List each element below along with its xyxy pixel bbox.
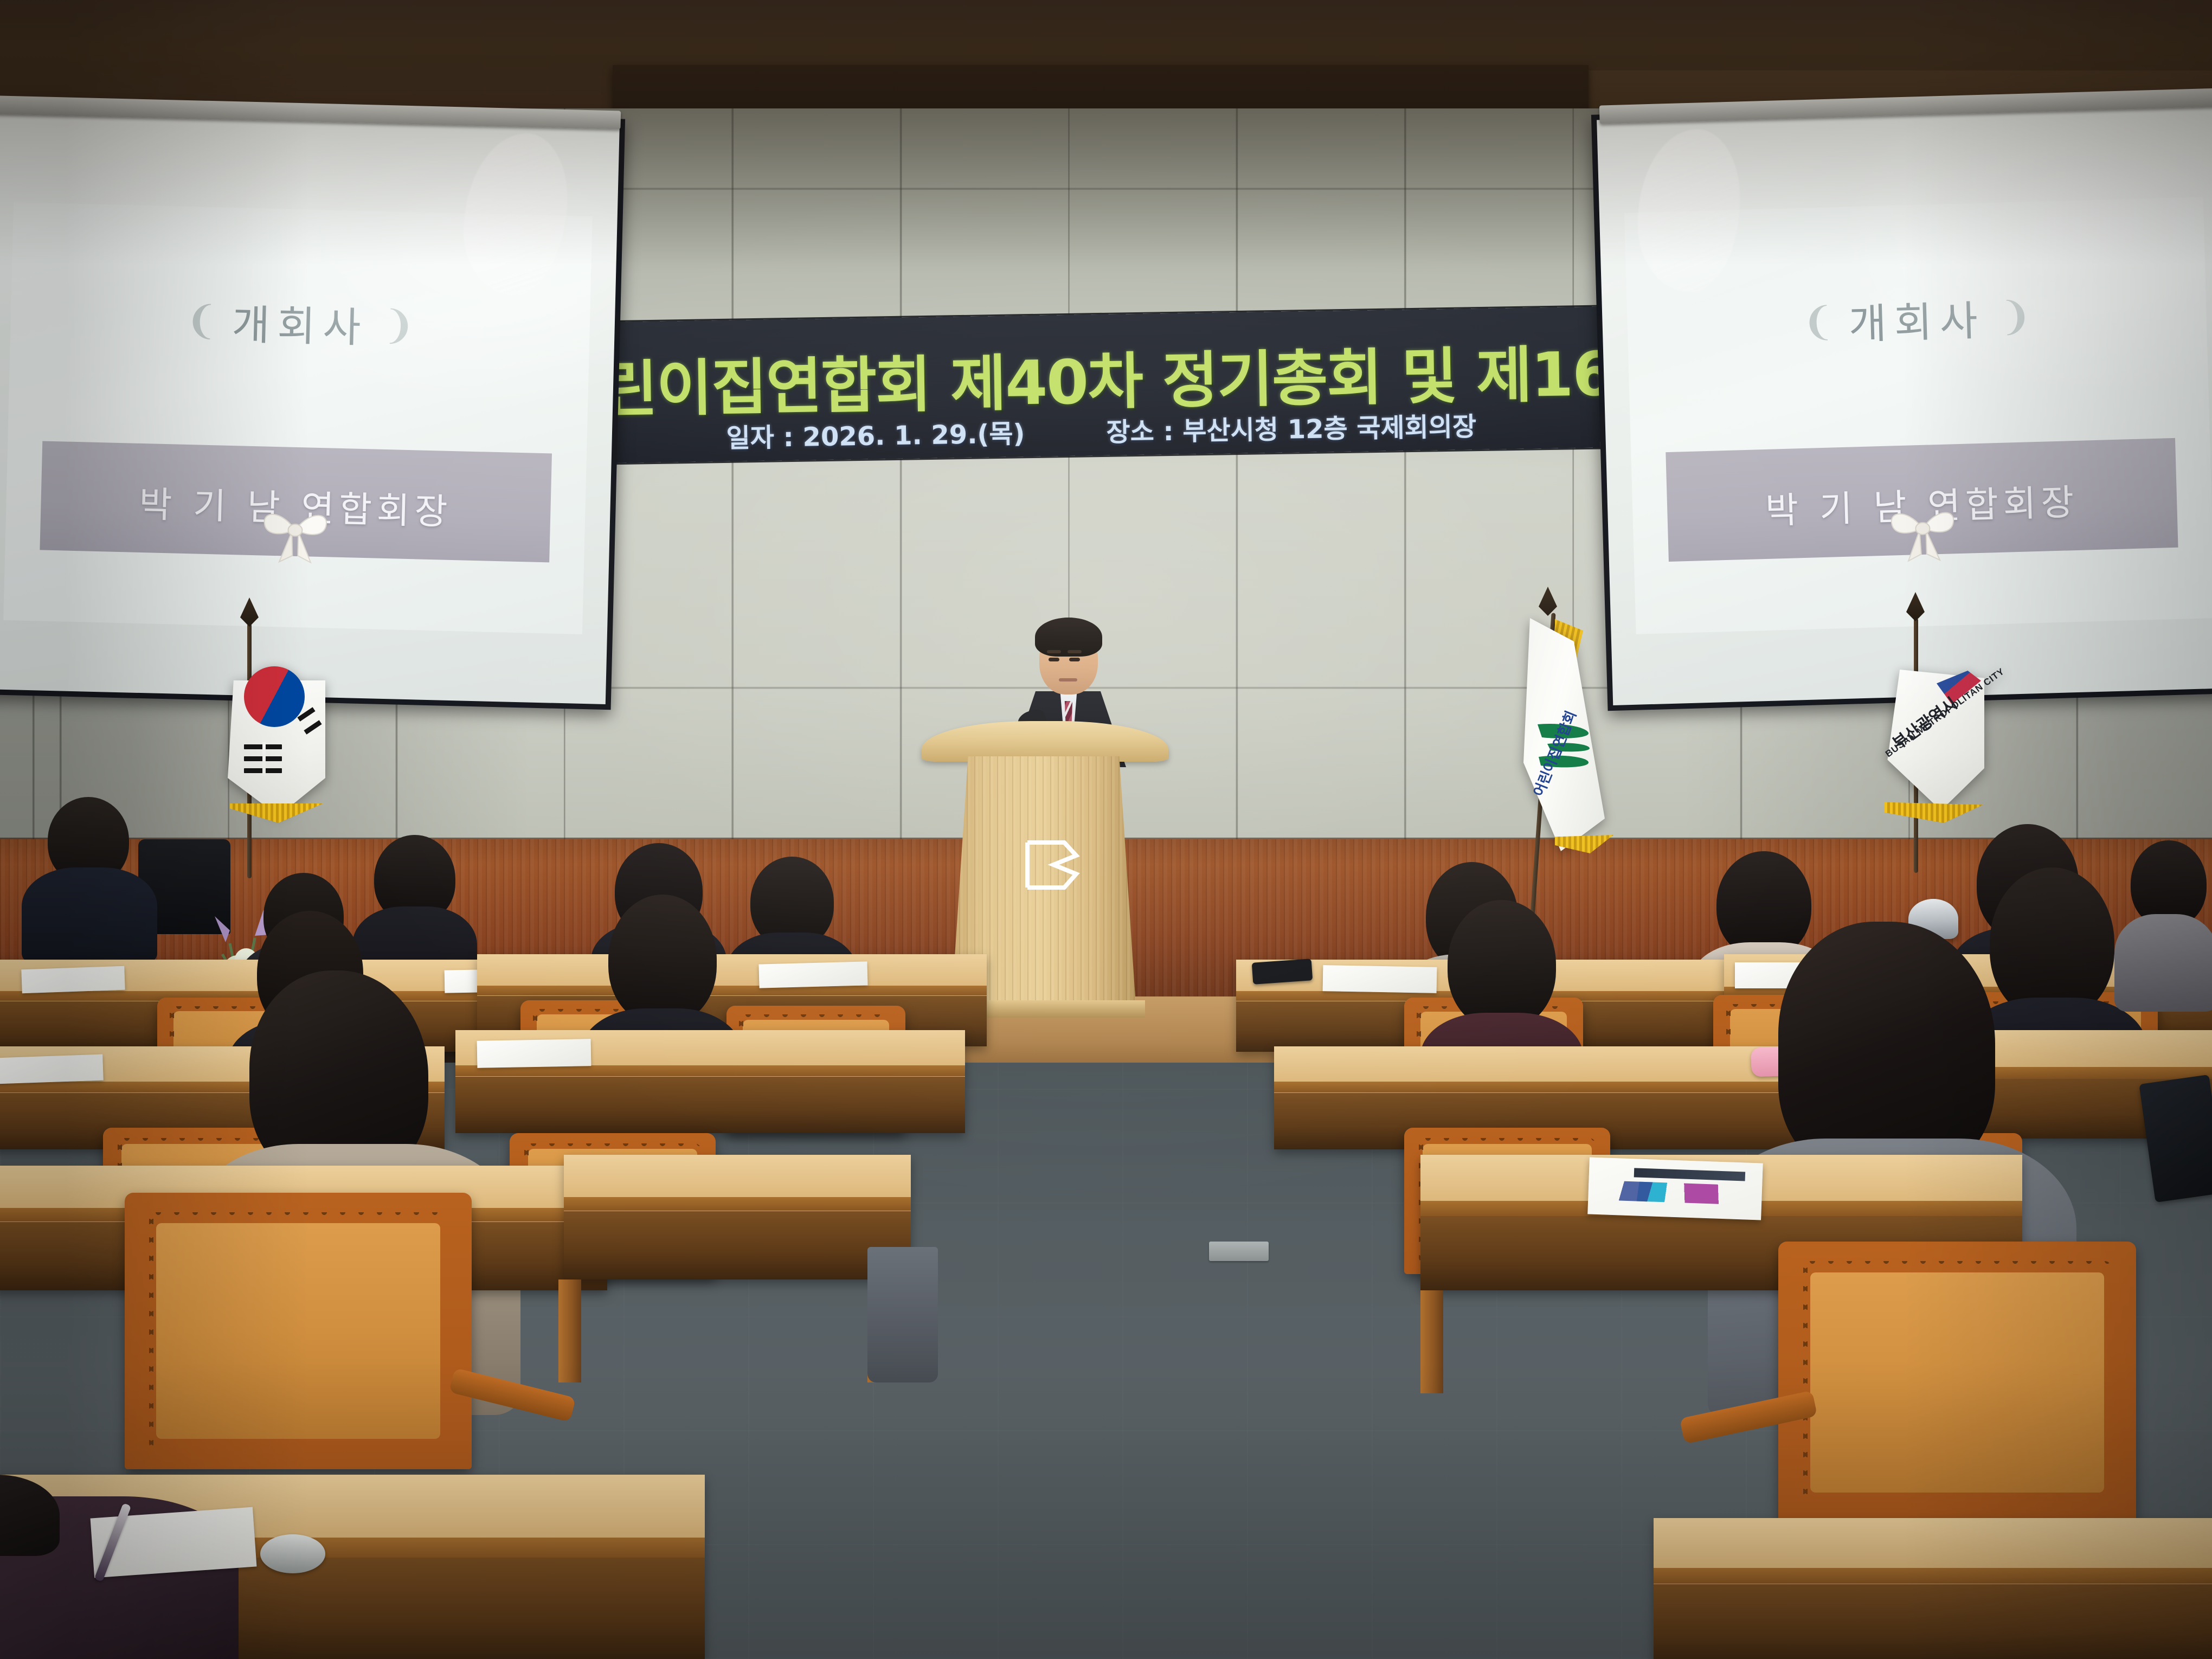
floor-tote-bag bbox=[867, 1247, 938, 1382]
chair-studs bbox=[149, 1212, 447, 1450]
paper-sheet bbox=[1323, 965, 1437, 993]
right-slide-name-band: 박 기 남 연합회장 bbox=[1666, 438, 2178, 562]
event-banner: 린이집연합회 제40차 정기총회 및 제16대 연합회 일자 : 2026. 1… bbox=[601, 307, 1600, 464]
korean-national-flag bbox=[228, 680, 325, 816]
left-slide-heading: 개회사 bbox=[232, 291, 369, 354]
smartphone bbox=[1252, 959, 1313, 985]
booklet-graphic bbox=[1598, 1180, 1752, 1205]
paper-sheet bbox=[758, 961, 867, 988]
chair bbox=[1778, 1242, 2136, 1523]
conference-hall-photo: 린이집연합회 제40차 정기총회 및 제16대 연합회 일자 : 2026. 1… bbox=[0, 0, 2212, 1659]
booklet-title-band bbox=[1634, 1168, 1745, 1181]
left-projection-screen: ❨ 개회사 ❩ 박 기 남 연합회장 bbox=[0, 104, 625, 710]
chair-studs bbox=[1803, 1261, 2111, 1503]
desk-row-front-center bbox=[564, 1155, 911, 1279]
attendee bbox=[22, 797, 157, 960]
speaker-eye-left bbox=[1049, 658, 1059, 661]
laurel-left-icon: ❨ bbox=[185, 300, 218, 340]
left-slide-name-band: 박 기 남 연합회장 bbox=[40, 441, 552, 562]
attendee-head bbox=[1448, 900, 1556, 1029]
ribbon-bow-icon bbox=[1873, 499, 1973, 572]
desk-apron bbox=[455, 1077, 965, 1134]
speaker-brow-left bbox=[1047, 650, 1061, 653]
desk-apron bbox=[1654, 1584, 2212, 1659]
desk-row-bottom-right bbox=[1654, 1518, 2212, 1659]
attendee-head bbox=[608, 895, 717, 1025]
right-slide-heading-row: ❨ 개회사 ❩ bbox=[1627, 281, 2207, 357]
banner-place: 장소 : 부산시청 12층 국제회의장 bbox=[1106, 405, 1477, 449]
chair bbox=[125, 1193, 472, 1469]
attendee-torso bbox=[22, 867, 157, 965]
paper-sheet bbox=[0, 1054, 104, 1084]
trigram-split bbox=[262, 742, 266, 776]
laurel-right-icon: ❩ bbox=[382, 305, 416, 345]
attendee-torso bbox=[2114, 914, 2212, 1012]
desk-edge bbox=[1654, 1568, 2212, 1584]
busan-metropolitan-city-flag: 부산광역시 BUSAN METROPOLITAN CITY bbox=[1881, 670, 1984, 811]
association-flag: 어린이집연합회 bbox=[1523, 618, 1605, 851]
right-projection-screen: ❨ 개회사 ❩ 박 기 남 연합회장 bbox=[1591, 97, 2212, 711]
paper-sheet bbox=[21, 966, 125, 994]
laurel-right-icon: ❩ bbox=[1998, 296, 2032, 336]
center-aisle bbox=[965, 1193, 1290, 1659]
left-slide-heading-row: ❨ 개회사 ❩ bbox=[10, 286, 590, 359]
speaker-eye-right bbox=[1069, 658, 1080, 661]
attendee bbox=[2114, 840, 2212, 1003]
right-screen-surface: ❨ 개회사 ❩ 박 기 남 연합회장 bbox=[1597, 102, 2212, 705]
desk-surface bbox=[564, 1155, 911, 1197]
right-slide-heading: 개회사 bbox=[1848, 287, 1986, 351]
desk-leg bbox=[558, 1279, 581, 1382]
desk-name-holder bbox=[260, 1534, 325, 1573]
program-booklet bbox=[1587, 1157, 1763, 1220]
taeguk-icon bbox=[244, 666, 305, 727]
desk-leg bbox=[1420, 1290, 1443, 1393]
speaker-brow-right bbox=[1068, 650, 1082, 653]
laurel-left-icon: ❨ bbox=[1801, 302, 1835, 342]
desk-edge bbox=[564, 1197, 911, 1211]
attendee-head bbox=[0, 1475, 60, 1556]
left-screen-surface: ❨ 개회사 ❩ 박 기 남 연합회장 bbox=[0, 109, 620, 704]
banner-date: 일자 : 2026. 1. 29.(목) bbox=[726, 412, 1025, 455]
speaker-mouth bbox=[1059, 678, 1077, 681]
busan-b-logo-icon bbox=[1022, 839, 1082, 891]
desk-apron bbox=[564, 1211, 911, 1280]
desk-surface bbox=[1654, 1518, 2212, 1568]
ribbon-bow-icon bbox=[246, 500, 345, 573]
